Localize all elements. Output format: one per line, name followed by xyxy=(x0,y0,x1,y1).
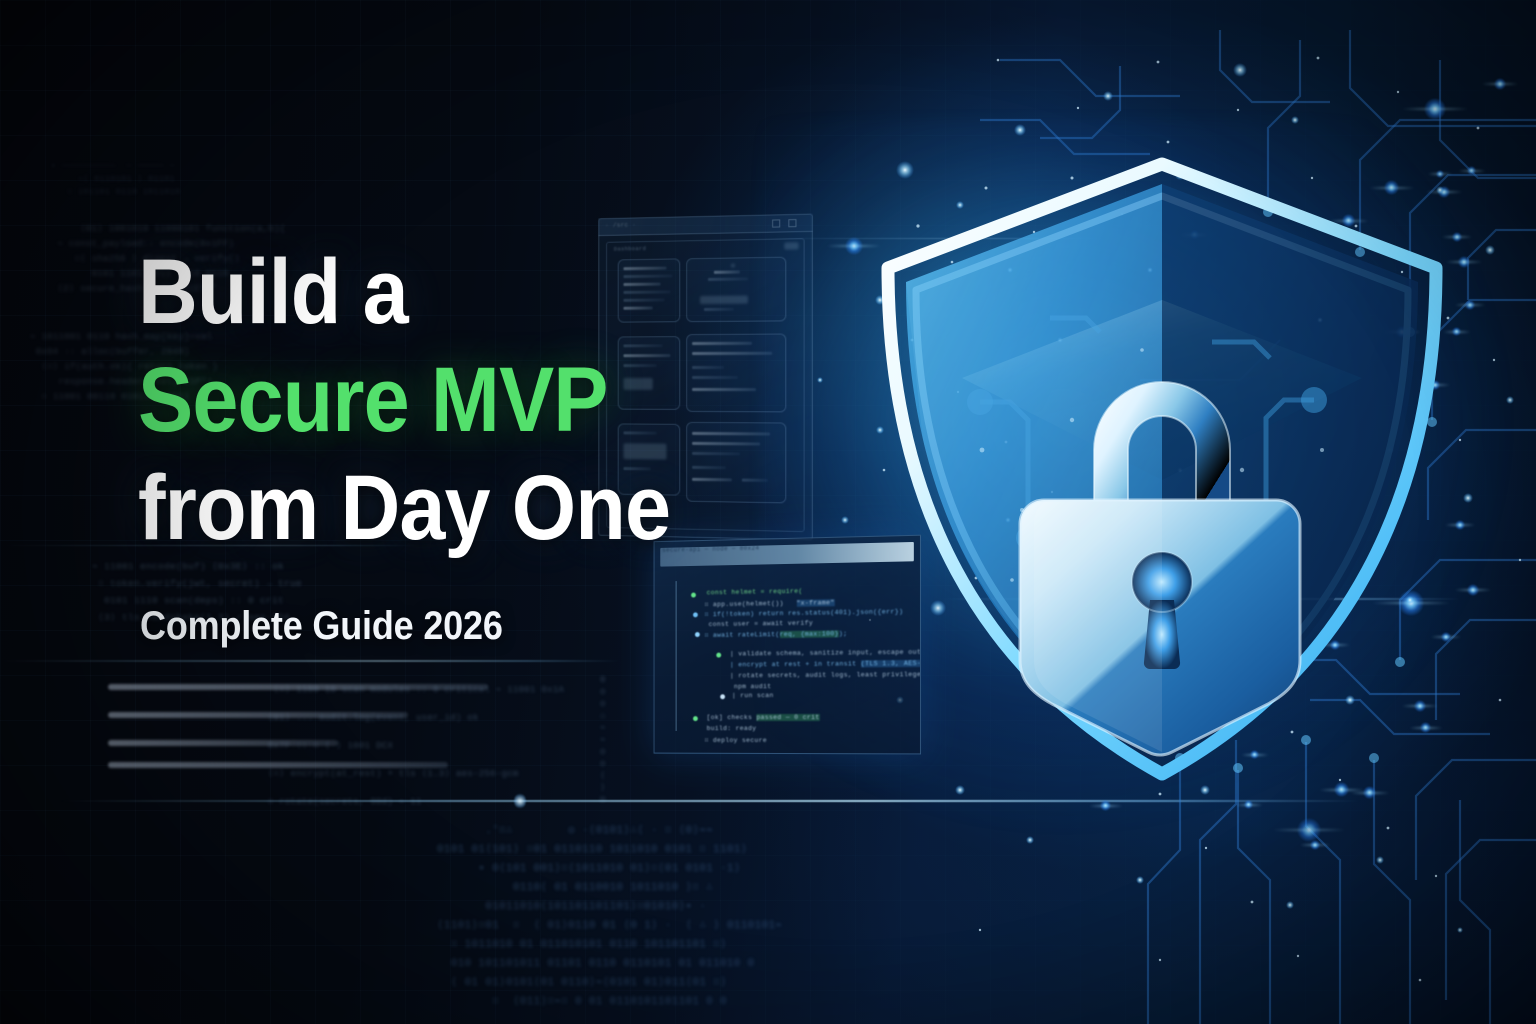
terminal-line: build: ready xyxy=(707,725,757,732)
shield-icon xyxy=(862,150,1462,790)
terminal-bullet xyxy=(691,593,696,598)
terminal-bullet xyxy=(693,612,698,617)
wireframe-title-text: ∙ /src ∙ xyxy=(605,221,636,229)
headline-line-2: Secure MVP xyxy=(138,346,768,454)
terminal-line: ∷ deploy secure xyxy=(705,736,767,744)
terminal-bullet xyxy=(720,694,725,699)
terminal-line: npm audit xyxy=(734,683,772,690)
headline-line-3: from Day One xyxy=(138,454,768,562)
headline-line-1: Build a xyxy=(138,238,768,346)
poster-canvas: ⟨01⟩ 1001010 11000101 function(a,b){ ⌁ c… xyxy=(0,0,1536,1024)
terminal-line: ∷ app.use(helmet()) "x-frame" xyxy=(705,598,835,608)
circuit-node xyxy=(1310,840,1320,850)
terminal-bullet xyxy=(695,632,700,637)
wireframe-icon-search xyxy=(772,219,780,227)
terminal-line: ∷ await rateLimit(req, {max:100}); xyxy=(705,629,848,639)
circuit-node xyxy=(1424,98,1446,120)
terminal-line: [ok] checks passed — 0 crit xyxy=(707,714,820,721)
terminal-line: const user = await verify xyxy=(709,620,814,628)
subtitle: Complete Guide 2026 xyxy=(140,604,503,649)
terminal-bullet xyxy=(693,716,698,721)
circuit-node xyxy=(1494,78,1506,90)
terminal-bullet xyxy=(716,653,721,658)
terminal-gutter xyxy=(676,581,677,731)
terminal-line: const helmet = require( xyxy=(707,588,803,597)
wireframe-icon-menu xyxy=(788,219,796,227)
headline-block: Build a Secure MVP from Day One xyxy=(138,238,838,562)
terminal-line: | run scan xyxy=(732,692,774,699)
